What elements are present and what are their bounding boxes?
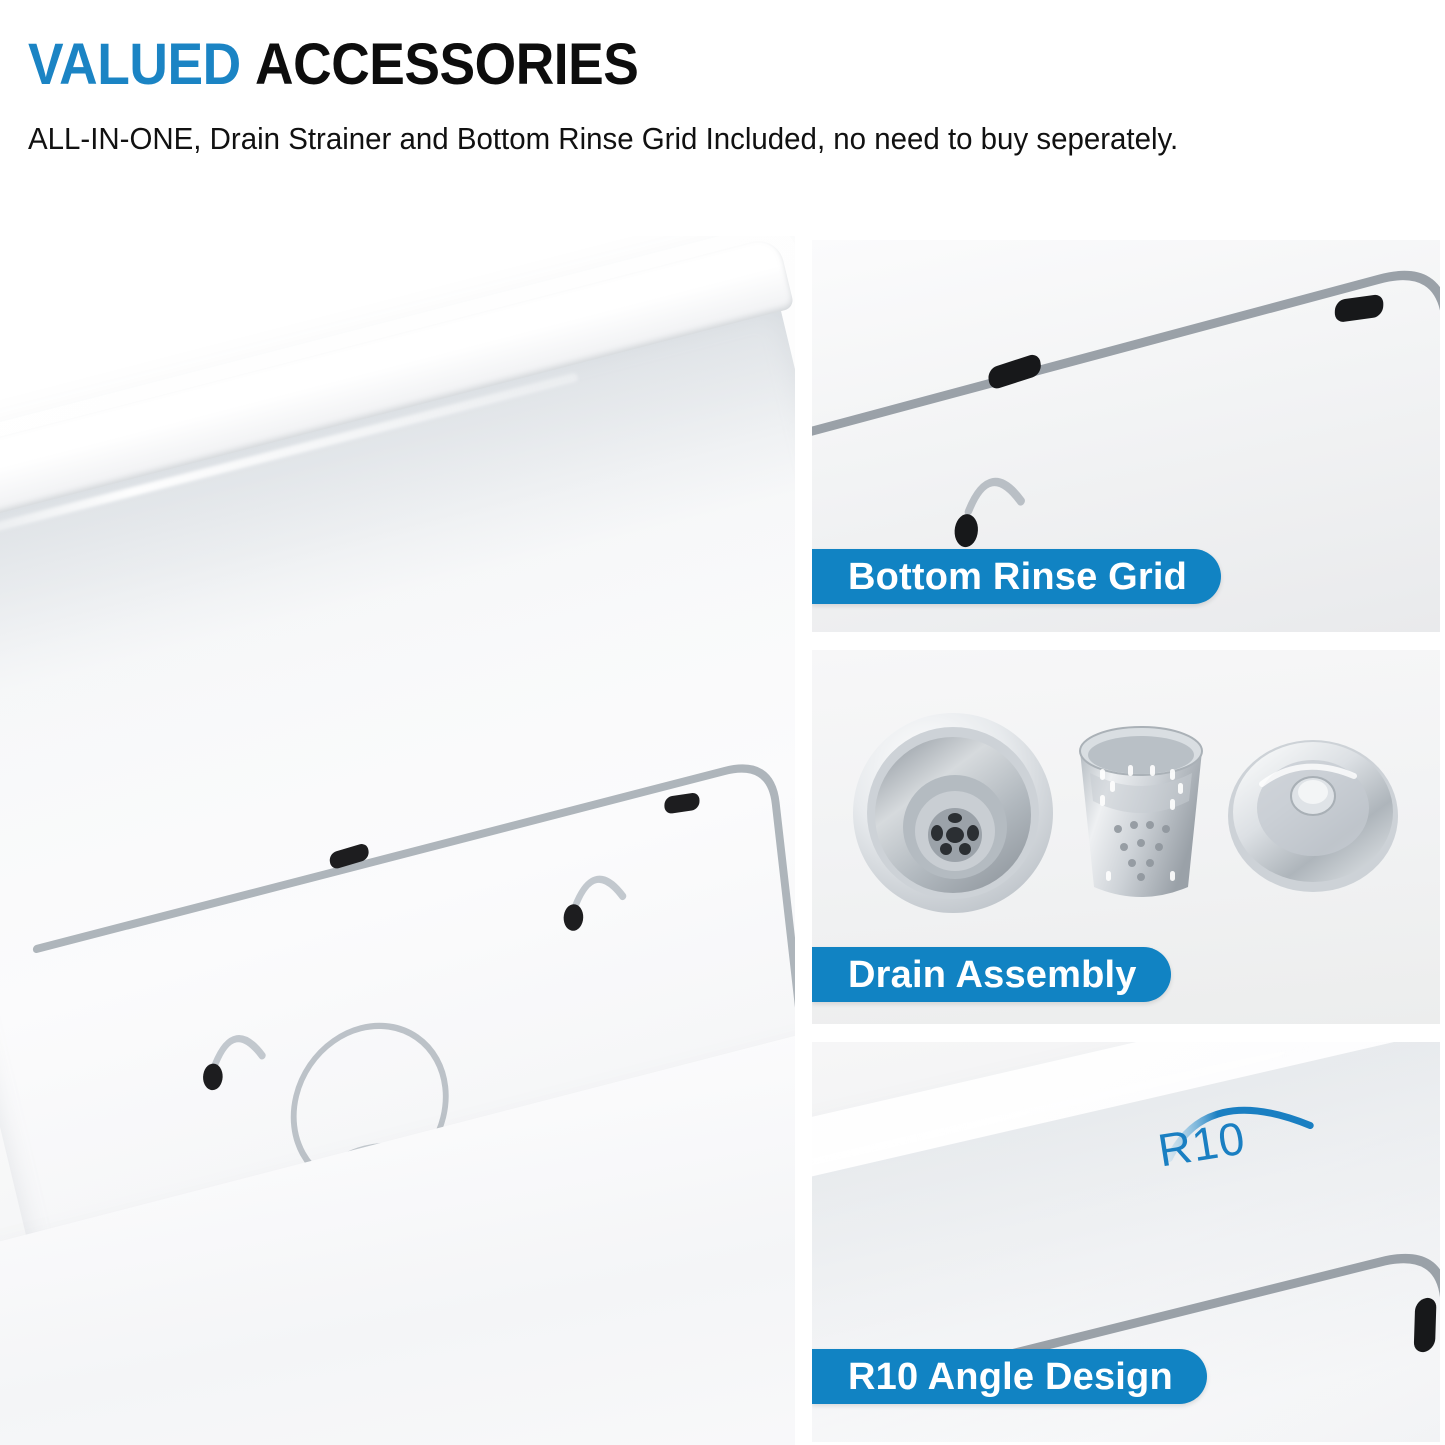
page-subtitle: ALL-IN-ONE, Drain Strainer and Bottom Ri… xyxy=(28,117,1282,161)
title-rest: ACCESSORIES xyxy=(255,32,638,97)
drain-stopper-cap xyxy=(1226,726,1401,901)
drain-flange-body xyxy=(851,711,1056,916)
page-title: VALUED ACCESSORIES xyxy=(28,34,1307,95)
drain-assembly-photo: Drain Assembly xyxy=(812,650,1440,1024)
badge-r10-angle-design: R10 Angle Design xyxy=(812,1349,1207,1404)
badge-label: Bottom Rinse Grid xyxy=(848,558,1187,596)
drain-parts-row xyxy=(812,696,1440,931)
hero-sink-photo xyxy=(0,236,795,1445)
panel-r10-angle-design: R10 xyxy=(812,1042,1440,1442)
badge-label: R10 Angle Design xyxy=(848,1358,1173,1396)
badge-drain-assembly: Drain Assembly xyxy=(812,947,1171,1002)
r10-corner-photo: R10 xyxy=(812,1042,1440,1442)
product-feature-image: VALUED ACCESSORIES ALL-IN-ONE, Drain Str… xyxy=(0,0,1445,1445)
badge-bottom-rinse-grid: Bottom Rinse Grid xyxy=(812,549,1221,604)
rinse-grid-photo: Bottom Rinse Grid xyxy=(812,240,1440,632)
header: VALUED ACCESSORIES ALL-IN-ONE, Drain Str… xyxy=(28,34,1418,161)
panel-drain-assembly: Drain Assembly xyxy=(812,650,1440,1024)
hero-stage xyxy=(0,236,795,1445)
strainer-basket xyxy=(1066,711,1216,916)
title-highlight: VALUED xyxy=(28,32,241,97)
panel-bottom-rinse-grid: Bottom Rinse Grid xyxy=(812,240,1440,632)
badge-label: Drain Assembly xyxy=(848,956,1137,994)
